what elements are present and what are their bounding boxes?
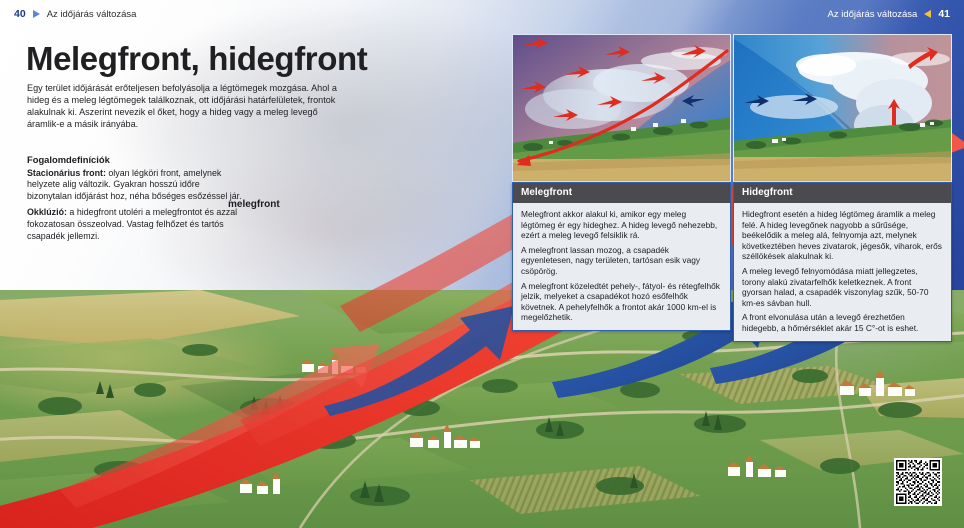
hidegfront-infobox: Hidegfront Hidegfront esetén a hideg lég… <box>733 182 952 342</box>
village-buildings <box>238 472 298 496</box>
page-number-right: 41 <box>938 8 950 20</box>
triangle-left-icon <box>924 10 931 18</box>
paragraph: A front elvonulása után a levegő érezhet… <box>742 312 943 333</box>
hidegfront-infobox-title: Hidegfront <box>734 183 951 203</box>
header-left: 40 Az időjárás változása <box>14 8 136 20</box>
village-buildings <box>726 454 796 480</box>
header-right-title: Az időjárás változása <box>828 9 918 20</box>
qr-code[interactable] <box>894 458 942 506</box>
village-buildings <box>408 424 482 452</box>
melegfront-cross-section <box>513 35 731 182</box>
warm-front-label: melegfront <box>228 199 280 210</box>
qr-code-icon <box>896 460 940 504</box>
village-far-right <box>726 454 796 485</box>
definitions-block: Fogalomdefiníciók Stacionárius front: ol… <box>27 154 242 243</box>
header-right: Az időjárás változása 41 <box>828 8 950 20</box>
hidegfront-cross-section <box>734 35 952 182</box>
page-title: Melegfront, hidegfront <box>26 40 367 78</box>
hidegfront-diagram <box>733 34 952 182</box>
cold-front-blue-arrow-left <box>320 300 520 420</box>
village-foreground <box>238 472 298 501</box>
page-number-left: 40 <box>14 8 26 20</box>
paragraph: Hidegfront esetén a hideg légtömeg áraml… <box>742 209 943 262</box>
definition-term: Stacionárius front: <box>27 168 106 178</box>
melegfront-infobox-body: Melegfront akkor alakul ki, amikor egy m… <box>513 203 730 330</box>
paragraph: A melegfront közeledtét pehely-, fátyol-… <box>521 281 722 323</box>
melegfront-infobox-title: Melegfront <box>513 183 730 203</box>
definition-term: Okklúzió: <box>27 207 67 217</box>
header-left-title: Az időjárás változása <box>47 9 137 20</box>
melegfront-diagram <box>512 34 731 182</box>
hidegfront-infobox-body: Hidegfront esetén a hideg légtömeg áraml… <box>734 203 951 341</box>
definitions-heading: Fogalomdefiníciók <box>27 154 242 166</box>
spread-page: 40 Az időjárás változása Az időjárás vál… <box>0 0 964 528</box>
paragraph: Melegfront akkor alakul ki, amikor egy m… <box>521 209 722 241</box>
intro-paragraph: Egy terület időjárását erőteljesen befol… <box>27 82 345 130</box>
paragraph: A melegfront lassan mozog, a csapadék eg… <box>521 245 722 277</box>
definition-item: Okklúzió: a hidegfront utoléri a melegfr… <box>27 207 242 242</box>
melegfront-infobox: Melegfront Melegfront akkor alakul ki, a… <box>512 182 731 331</box>
triangle-right-icon <box>33 10 40 18</box>
village-lower <box>408 424 482 457</box>
paragraph: A meleg levegő felnyomódása miatt jelleg… <box>742 266 943 308</box>
definition-item: Stacionárius front: olyan légköri front,… <box>27 168 242 203</box>
